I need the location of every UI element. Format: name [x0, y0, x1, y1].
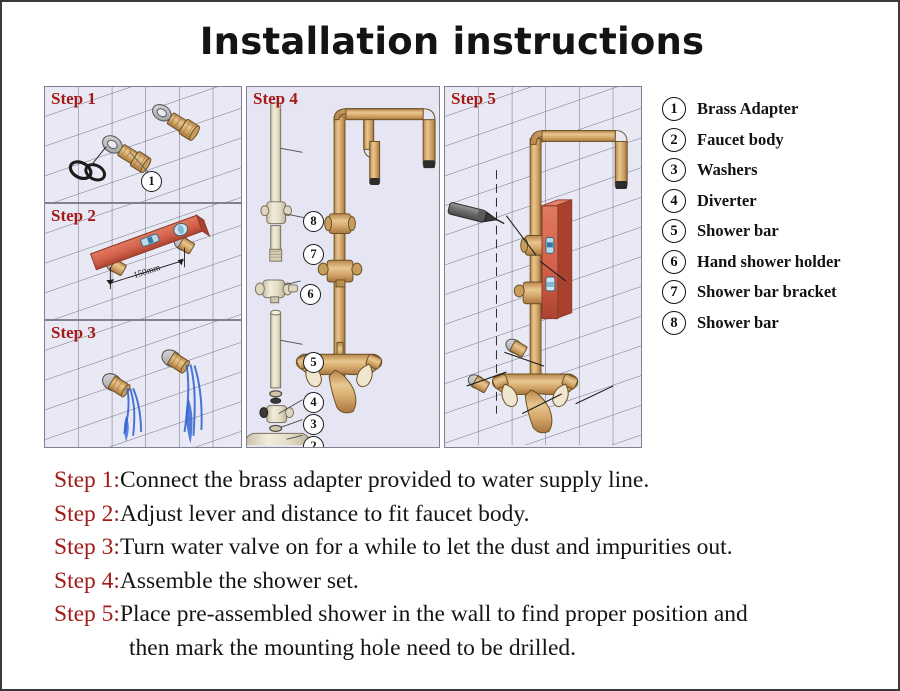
- legend-label-3: Washers: [697, 160, 758, 180]
- legend-label-2: Faucet body: [697, 130, 784, 150]
- step-label-4: Step 4: [253, 89, 298, 109]
- panel-step-5: Step 5: [444, 86, 642, 448]
- step-body-5-continued: then mark the mounting hole need to be d…: [129, 635, 576, 661]
- step-label-1: Step 1: [51, 89, 96, 109]
- panel-step-3: Step 3: [44, 320, 242, 448]
- step-body-1: Connect the brass adapter provided to wa…: [120, 467, 649, 493]
- callout-6: 6: [300, 284, 321, 305]
- step-body-3: Turn water valve on for a while to let t…: [120, 534, 733, 560]
- step-label-5: Step 5: [451, 89, 496, 109]
- panel-step-2: Step 2 150mm: [44, 203, 242, 320]
- steps-text-block: Step 1:Connect the brass adapter provide…: [54, 464, 884, 665]
- step-body-4: Assemble the shower set.: [120, 568, 359, 594]
- legend-label-4: Diverter: [697, 191, 757, 211]
- legend-item-5: 5 Shower bar: [662, 216, 900, 247]
- legend-item-4: 4 Diverter: [662, 186, 900, 217]
- step-body-2: Adjust lever and distance to fit faucet …: [120, 501, 530, 527]
- step-tag-2: Step 2:: [54, 501, 120, 527]
- legend-label-6: Hand shower holder: [697, 252, 841, 272]
- step-text-5: Step 5:Place pre-assembled shower in the…: [54, 598, 884, 632]
- legend-label-7: Shower bar bracket: [697, 282, 837, 302]
- legend-item-8: 8 Shower bar: [662, 308, 900, 339]
- legend-number-4: 4: [662, 189, 686, 213]
- legend-item-1: 1 Brass Adapter: [662, 94, 900, 125]
- legend-item-2: 2 Faucet body: [662, 125, 900, 156]
- step-text-1: Step 1:Connect the brass adapter provide…: [54, 464, 884, 498]
- step-label-2: Step 2: [51, 206, 96, 226]
- legend-number-8: 8: [662, 311, 686, 335]
- step-label-3: Step 3: [51, 323, 96, 343]
- legend-item-7: 7 Shower bar bracket: [662, 277, 900, 308]
- legend-list: 1 Brass Adapter 2 Faucet body 3 Washers …: [662, 94, 900, 338]
- legend-label-5: Shower bar: [697, 221, 779, 241]
- legend-item-6: 6 Hand shower holder: [662, 247, 900, 278]
- callout-3: 3: [303, 414, 324, 435]
- callout-8: 8: [303, 211, 324, 232]
- step4-artwork: [247, 87, 439, 445]
- step-text-5-continued: then mark the mounting hole need to be d…: [54, 632, 884, 666]
- step5-artwork: [445, 87, 641, 445]
- legend-number-1: 1: [662, 97, 686, 121]
- installation-instructions-page: Installation instructions: [0, 0, 900, 691]
- step-text-3: Step 3:Turn water valve on for a while t…: [54, 531, 884, 565]
- callout-7: 7: [303, 244, 324, 265]
- legend-number-6: 6: [662, 250, 686, 274]
- legend-item-3: 3 Washers: [662, 155, 900, 186]
- step-tag-4: Step 4:: [54, 568, 120, 594]
- step-tag-5: Step 5:: [54, 601, 120, 627]
- legend-label-1: Brass Adapter: [697, 99, 798, 119]
- legend-number-3: 3: [662, 158, 686, 182]
- step-body-5: Place pre-assembled shower in the wall t…: [120, 601, 748, 627]
- step-text-4: Step 4:Assemble the shower set.: [54, 565, 884, 599]
- callout-1: 1: [141, 171, 162, 192]
- step-tag-1: Step 1:: [54, 467, 120, 493]
- legend-number-7: 7: [662, 280, 686, 304]
- callout-5: 5: [303, 352, 324, 373]
- step-tag-3: Step 3:: [54, 534, 120, 560]
- step-text-2: Step 2:Adjust lever and distance to fit …: [54, 498, 884, 532]
- legend-label-8: Shower bar: [697, 313, 779, 333]
- legend-number-5: 5: [662, 219, 686, 243]
- panel-step-1: Step 1 1: [44, 86, 242, 203]
- legend-number-2: 2: [662, 128, 686, 152]
- callout-4: 4: [303, 392, 324, 413]
- panel-step-4: Step 4 8 7 6 5 4 3 2: [246, 86, 440, 448]
- page-title: Installation instructions: [2, 20, 900, 63]
